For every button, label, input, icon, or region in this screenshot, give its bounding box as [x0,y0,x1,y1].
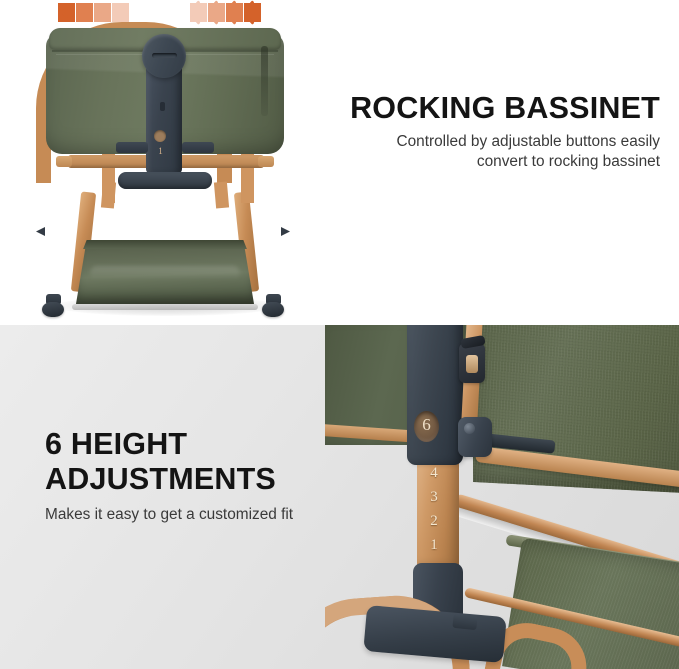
height-number-2: 2 [417,509,451,533]
bassinet-wood-base-right [258,156,274,167]
heading-line-2: ADJUSTMENTS [45,462,345,497]
panel-rocking-bassinet: 1 ROCKING BASSINET Controlled by adjusta… [0,0,679,325]
number-badge: 6 [414,411,439,442]
bassinet-side-strap [261,46,268,116]
height-adjustments-text-block: 6 HEIGHT ADJUSTMENTS Makes it easy to ge… [45,427,345,524]
post-release-hole [160,102,165,111]
caster-wheel [42,302,64,317]
t-joint-tab [452,614,477,630]
wood-leg-shaft-inner-left [101,181,116,208]
bassinet-rear-view-photo: 1 [36,22,294,320]
panel-height-adjustments: 6 HEIGHT ADJUSTMENTS Makes it easy to ge… [0,325,679,669]
caster-wheel-left [42,294,64,316]
post-cross-brace [118,172,212,189]
adjustable-button-slot [152,53,177,58]
product-infographic: 1 ROCKING BASSINET Controlled by adjusta… [0,0,679,669]
number-badge-label: 6 [414,415,439,435]
gray-adjust-sleeve [407,325,463,465]
basket-highlight [90,266,240,280]
latch-clip-inner [466,355,478,373]
height-adjustment-closeup-photo: 5 4 3 2 1 6 [325,325,679,669]
heading-line-1: 6 HEIGHT [45,427,345,462]
post-bracket-right [182,142,214,153]
height-adjustments-subheading: Makes it easy to get a customized fit [45,506,345,524]
subheading-line-1: Controlled by adjustable buttons easily [330,132,660,152]
storage-basket [76,240,254,304]
height-number-1: 1 [417,533,451,557]
bassinet-wood-base-left [56,156,72,167]
post-number-label: 1 [154,146,167,156]
subheading-line-2: convert to rocking bassinet [330,152,660,172]
height-number-3: 3 [417,485,451,509]
basket-lip [76,240,254,249]
basket-rail [72,304,258,310]
post-number-badge [154,130,166,142]
caster-wheel-right [262,294,284,316]
post-bracket-left [116,142,148,153]
rocking-bassinet-text-block: ROCKING BASSINET Controlled by adjustabl… [330,92,660,173]
center-post [146,62,182,174]
height-adjustments-heading: 6 HEIGHT ADJUSTMENTS [45,427,345,497]
caster-wheel [262,302,284,317]
rocking-bassinet-subheading: Controlled by adjustable buttons easily … [330,132,660,173]
connector-bracket [458,417,492,457]
rocking-bassinet-heading: ROCKING BASSINET [330,92,660,125]
bracket-pin [464,423,475,434]
wood-leg-shaft-inner-right [214,181,229,208]
